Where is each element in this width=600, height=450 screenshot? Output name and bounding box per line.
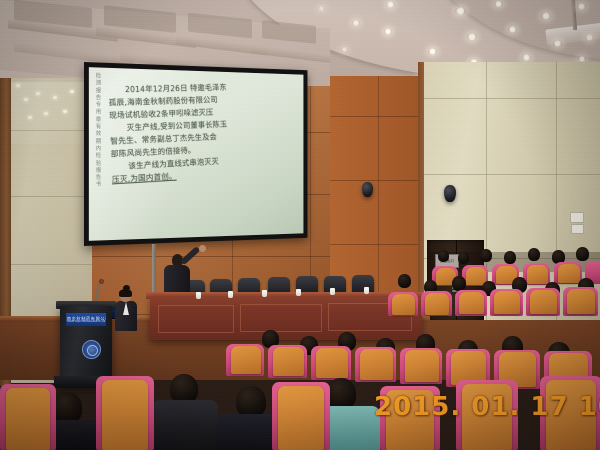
slide-sidebar-char: 告 xyxy=(96,95,101,101)
auditorium-seat-back xyxy=(316,348,348,378)
paper-cup xyxy=(228,291,233,298)
presenter-hand xyxy=(199,245,206,252)
ceiling-downlight xyxy=(522,54,531,61)
ceiling-downlight xyxy=(386,1,395,8)
slide-sidebar-char: 报 xyxy=(96,88,101,94)
wall-left-reflection xyxy=(8,82,94,144)
auditorium-seat-back xyxy=(278,386,324,450)
ceiling-downlight xyxy=(384,28,392,35)
auditorium-seat-back xyxy=(392,294,415,315)
auditorium-seat-back xyxy=(405,350,439,382)
slide-sidebar-char: 检 xyxy=(96,73,101,79)
ceiling-downlight xyxy=(428,48,437,55)
audience-head xyxy=(480,249,492,262)
audience-head xyxy=(458,252,469,264)
slide-sidebar-char: 有 xyxy=(96,124,101,130)
microphone-head-icon xyxy=(99,279,104,284)
screen-frame: 检 测 报 告 专 用 章 有 效 期 内 检 验 报 告 书 xyxy=(84,62,307,246)
slide-sidebar-char: 章 xyxy=(96,117,101,123)
auditorium-seat-back xyxy=(567,289,595,314)
slide-sidebar-char: 告 xyxy=(96,175,101,181)
slide-sidebar-char: 用 xyxy=(96,110,101,116)
podium-banner: 海南金秋制药有限公司 Hainan Jinqiu Pharmaceutical … xyxy=(66,313,106,326)
ceiling-downlight xyxy=(541,12,551,20)
auditorium-seat-back xyxy=(273,347,304,376)
slide-sidebar-marks: 检 测 报 告 专 用 章 有 效 期 内 检 验 报 告 书 xyxy=(92,73,105,236)
slide-sidebar-char: 效 xyxy=(96,131,101,137)
ceiling-downlight xyxy=(341,47,348,52)
camera-timestamp: 2015. 01. 17 10:26 xyxy=(374,392,600,422)
slide-sidebar-char: 内 xyxy=(96,146,101,152)
auditorium-seat-back xyxy=(530,290,557,314)
podium: 海南金秋制药有限公司 Hainan Jinqiu Pharmaceutical … xyxy=(60,306,112,384)
screen-surface: 检 测 报 告 专 用 章 有 效 期 内 检 验 报 告 书 xyxy=(89,67,304,241)
slide-sidebar-char: 验 xyxy=(96,161,101,167)
audience-shoulders xyxy=(152,400,218,450)
audience-head xyxy=(452,276,466,291)
paper-cup xyxy=(296,289,301,296)
auditorium-seat-back xyxy=(425,293,449,315)
wall-outlet-plate xyxy=(571,224,584,234)
head-table xyxy=(150,296,422,340)
projection-screen: 检 测 报 告 专 用 章 有 效 期 内 检 验 报 告 书 xyxy=(84,62,307,246)
wall-outlet-plate xyxy=(570,212,584,223)
ceiling-downlight xyxy=(553,40,562,47)
slide-sidebar-char: 期 xyxy=(96,139,101,145)
auditorium-seat-back xyxy=(459,292,484,314)
paper-cup xyxy=(262,290,267,297)
ceiling-downlight xyxy=(494,1,503,7)
ceiling-downlight xyxy=(455,7,466,15)
paper-cup xyxy=(196,292,201,299)
audience-head xyxy=(528,248,540,261)
ceiling-downlight xyxy=(467,33,477,41)
computer-operator xyxy=(110,288,144,348)
wall-speaker-icon xyxy=(444,185,456,202)
operator-hair-bun xyxy=(123,285,130,291)
ceiling-downlight xyxy=(577,3,586,10)
ceiling-downlight xyxy=(318,6,325,11)
auditorium-seat-back xyxy=(102,380,148,450)
wall-speaker-icon xyxy=(362,182,373,197)
auditorium-seat-back xyxy=(360,349,393,380)
ceiling-downlight xyxy=(508,26,517,33)
auditorium-seat-back xyxy=(231,346,261,374)
paper-cup xyxy=(330,288,335,295)
audience-head xyxy=(576,247,589,261)
ceiling-downlight xyxy=(352,20,360,26)
ceiling-downlight xyxy=(585,34,594,41)
auditorium-seat-back xyxy=(558,264,580,283)
slide-sidebar-char: 专 xyxy=(96,102,101,108)
slide-sidebar-char: 书 xyxy=(96,182,101,188)
slide-sidebar-char: 测 xyxy=(96,81,101,87)
paper-cup xyxy=(364,287,369,294)
slide-sidebar-char: 检 xyxy=(96,153,101,159)
slide-sidebar-char: 报 xyxy=(96,168,101,174)
audience-head xyxy=(398,274,411,288)
audience-head xyxy=(504,251,516,264)
photo-scene: 安全出口 检 测 报 告 专 用 章 有 效 期 内 检 xyxy=(0,0,600,450)
company-seal-emblem-icon xyxy=(82,340,101,359)
slide-text-body: 2014年12月26日 特邀毛泽东 孤辰,海南金秋制药股份有限公司 现场试机验收… xyxy=(108,81,299,187)
auditorium-seat-back xyxy=(527,265,548,284)
auditorium-seat-back xyxy=(494,291,520,314)
audience-head xyxy=(438,250,449,262)
podium-banner-en: Hainan Jinqiu Pharmaceutical Co.,Ltd xyxy=(67,321,105,324)
auditorium-seat-back xyxy=(6,388,50,450)
